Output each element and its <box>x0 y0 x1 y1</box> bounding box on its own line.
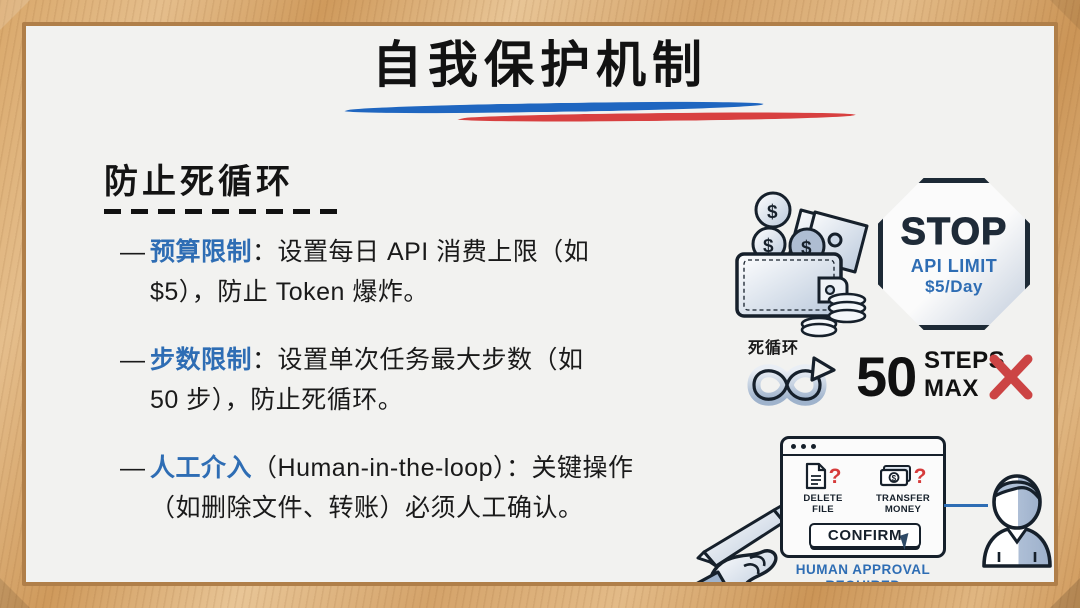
svg-text:$: $ <box>891 474 896 483</box>
stop-sign-price: $5/Day <box>925 277 983 297</box>
list-item: — 预算限制：设置每日 API 消费上限（如 $5），防止 Token 爆炸。 <box>120 232 730 312</box>
question-mark-icon: ? <box>829 466 842 487</box>
banknote-icon: $ <box>880 464 912 488</box>
bullet-term: 人工介入 <box>150 454 252 482</box>
document-icon <box>805 462 827 490</box>
section-subtitle: 防止死循环 <box>104 154 346 203</box>
stop-sign-api-limit: API LIMIT <box>911 256 998 277</box>
subtitle-block: 防止死循环 <box>104 154 346 214</box>
list-item: — 步数限制：设置单次任务最大步数（如 50 步），防止死循环。 <box>120 340 730 420</box>
window-dot <box>801 444 806 449</box>
bullet-text-line1: ：设置每日 API 消费上限（如 <box>252 238 589 266</box>
transfer-money-item: $ ? TRANSFER MONEY <box>866 459 940 515</box>
bullet-marker: — <box>120 232 150 272</box>
step-limit-max-label: MAX <box>924 376 979 402</box>
infinite-loop-icon <box>726 352 848 418</box>
delete-file-label-2: FILE <box>786 504 860 515</box>
human-approval-dialog: ? DELETE FILE $ ? <box>774 436 952 582</box>
bullet-text-line1: ：设置单次任务最大步数（如 <box>252 346 584 374</box>
red-cross-icon <box>988 354 1034 400</box>
list-item: — 人工介入（Human-in-the-loop）：关键操作 （如删除文件、转账… <box>120 448 730 528</box>
delete-file-label-1: DELETE <box>786 493 860 504</box>
bullet-term: 步数限制 <box>150 346 252 374</box>
browser-window: ? DELETE FILE $ ? <box>780 436 946 558</box>
stop-sign-word: STOP <box>901 211 1008 254</box>
bullet-marker: — <box>120 448 150 488</box>
approval-caption-line1: HUMAN APPROVAL <box>774 562 952 577</box>
whiteboard-canvas: 自我保护机制 防止死循环 — 预算限制：设置每日 API 消费上限（如 $5），… <box>26 26 1054 582</box>
bullet-text-line2: 50 步），防止死循环。 <box>120 380 730 420</box>
question-mark-icon: ? <box>914 466 927 487</box>
step-limit-number: 50 <box>856 350 916 404</box>
bullet-text-line1: （Human-in-the-loop）：关键操作 <box>252 454 634 482</box>
human-operator-avatar <box>974 468 1054 568</box>
bullet-term: 预算限制 <box>150 238 252 266</box>
page-title: 自我保护机制 <box>26 38 1054 93</box>
title-underline-red-stroke <box>456 111 856 123</box>
bullet-list: — 预算限制：设置每日 API 消费上限（如 $5），防止 Token 爆炸。 … <box>120 232 730 556</box>
window-title-bar <box>783 439 943 456</box>
bullet-marker: — <box>120 340 150 380</box>
title-underline <box>26 95 1054 123</box>
svg-text:$: $ <box>767 202 778 223</box>
window-dot <box>791 444 796 449</box>
stop-sign-icon: STOP API LIMIT $5/Day <box>878 178 1030 330</box>
subtitle-dashed-underline <box>104 209 346 214</box>
window-dot <box>811 444 816 449</box>
delete-file-item: ? DELETE FILE <box>786 459 860 515</box>
transfer-money-label-2: MONEY <box>866 504 940 515</box>
title-block: 自我保护机制 <box>26 38 1054 123</box>
slide-root: 自我保护机制 防止死循环 — 预算限制：设置每日 API 消费上限（如 $5），… <box>0 0 1080 608</box>
bullet-text-line2: （如删除文件、转账）必须人工确认。 <box>120 488 730 528</box>
wallet-with-cash-icon: $ $ $ <box>731 178 881 338</box>
step-limit-graphic: 死循环 50 STEPS MAX <box>726 336 1054 422</box>
bullet-text-line2: $5），防止 Token 爆炸。 <box>120 272 730 312</box>
approval-caption-line2: REQUIRED <box>774 578 952 582</box>
transfer-money-label-1: TRANSFER <box>866 493 940 504</box>
